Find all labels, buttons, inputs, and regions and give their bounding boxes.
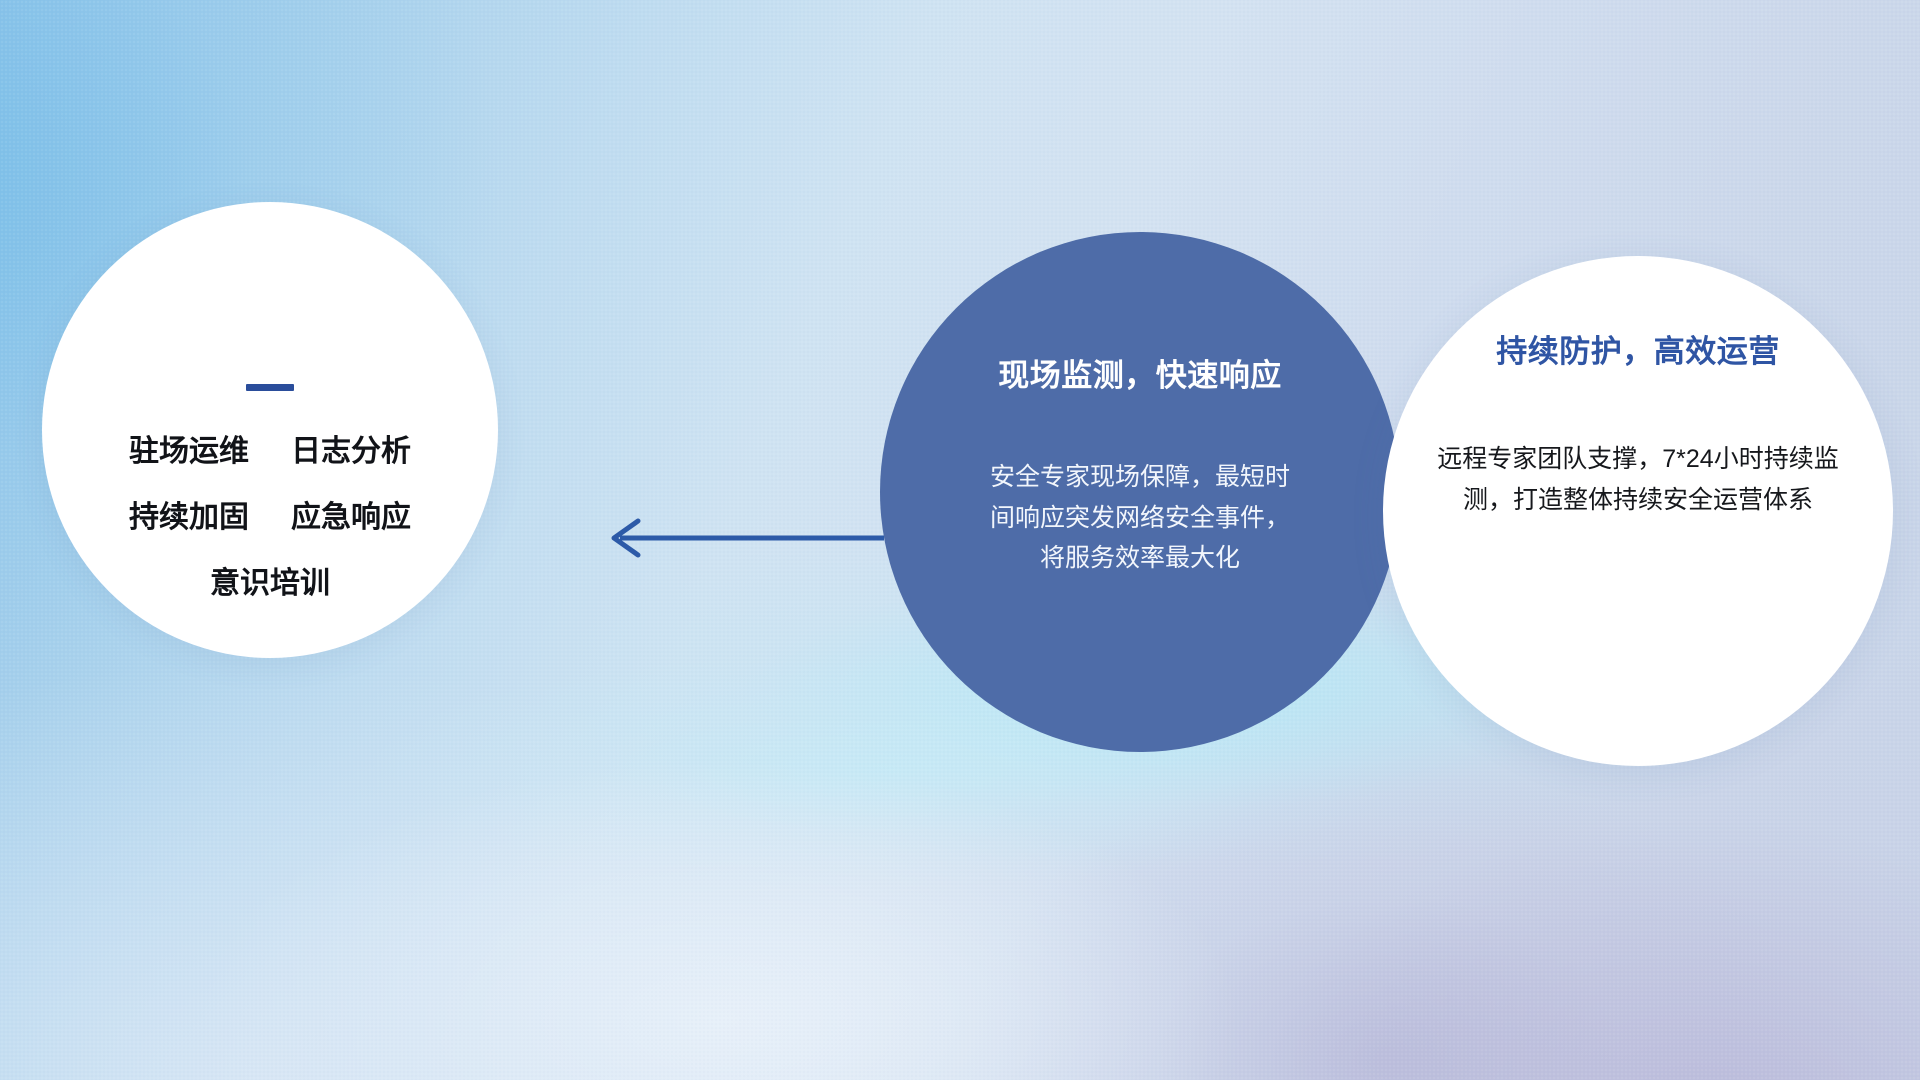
keyword-item: 意识培训 bbox=[210, 569, 330, 599]
keyword-item: 日志分析 bbox=[291, 437, 411, 467]
arrow-left-icon bbox=[594, 516, 884, 560]
keyword-row: 驻场运维 日志分析 bbox=[129, 437, 411, 467]
keyword-row: 持续加固 应急响应 bbox=[129, 503, 411, 533]
keyword-item: 驻场运维 bbox=[129, 437, 249, 467]
right-circle-title: 持续防护，高效运营 bbox=[1496, 326, 1780, 371]
right-circle-body: 远程专家团队支撑，7*24小时持续监测，打造整体持续安全运营体系 bbox=[1429, 439, 1847, 520]
middle-circle-content: 现场监测，快速响应 安全专家现场保障，最短时间响应突发网络安全事件，将服务效率最… bbox=[880, 232, 1400, 752]
middle-circle-body: 安全专家现场保障，最短时间响应突发网络安全事件，将服务效率最大化 bbox=[981, 457, 1299, 579]
left-circle-content: 驻场运维 日志分析 持续加固 应急响应 意识培训 bbox=[42, 202, 498, 658]
keyword-item: 持续加固 bbox=[129, 503, 249, 533]
keyword-item: 应急响应 bbox=[291, 503, 411, 533]
divider-dash bbox=[246, 384, 294, 391]
right-circle-content: 持续防护，高效运营 远程专家团队支撑，7*24小时持续监测，打造整体持续安全运营… bbox=[1383, 256, 1893, 766]
middle-circle-title: 现场监测，快速响应 bbox=[998, 350, 1282, 395]
keyword-row: 意识培训 bbox=[210, 569, 330, 599]
